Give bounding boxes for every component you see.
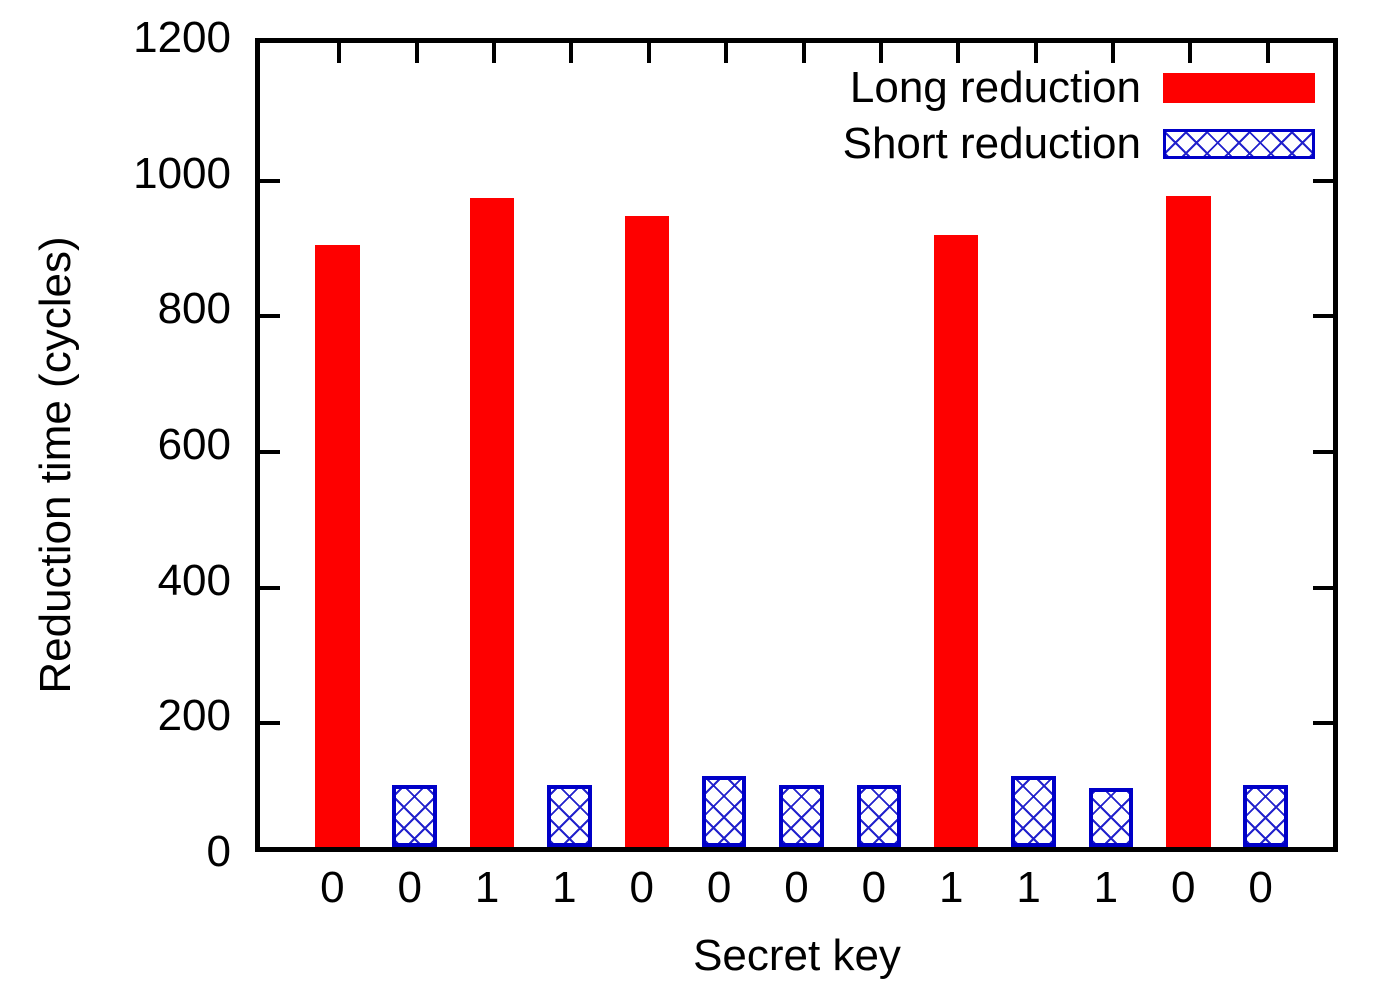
x-axis-tick-label: 0 xyxy=(320,866,344,910)
bar-long-reduction xyxy=(625,216,669,847)
y-axis-tick xyxy=(260,314,280,318)
x-axis-tick-label: 1 xyxy=(475,866,499,910)
y-axis-tick-label: 800 xyxy=(158,287,231,331)
legend-swatch-short-reduction xyxy=(1163,129,1315,159)
y-axis-tick xyxy=(1313,179,1333,183)
y-axis-title: Reduction time (cycles) xyxy=(34,115,78,815)
x-axis-tick-label: 0 xyxy=(1248,866,1272,910)
bar-short-reduction xyxy=(702,776,746,847)
y-axis-tick-label: 1200 xyxy=(133,16,231,60)
bar-long-reduction xyxy=(470,198,514,847)
bar-long-reduction xyxy=(315,245,359,847)
bar-short-reduction xyxy=(779,785,823,847)
bar-chart-figure: Reduction time (cycles) Secret key 02004… xyxy=(0,0,1399,1006)
x-axis-tick xyxy=(647,43,651,63)
x-axis-tick xyxy=(724,43,728,63)
bar-short-reduction xyxy=(1089,788,1133,847)
x-axis-title: Secret key xyxy=(255,934,1339,978)
legend-item: Short reduction xyxy=(775,116,1315,172)
y-axis-tick-label: 0 xyxy=(207,830,231,874)
bar-short-reduction xyxy=(857,785,901,847)
y-axis-tick xyxy=(260,586,280,590)
bar-long-reduction xyxy=(934,235,978,847)
y-axis-tick-label: 200 xyxy=(158,694,231,738)
x-axis-tick-label: 0 xyxy=(784,866,808,910)
y-axis-tick xyxy=(1313,314,1333,318)
y-axis-tick xyxy=(1313,721,1333,725)
x-axis-tick xyxy=(492,43,496,63)
bar-short-reduction xyxy=(1011,776,1055,847)
x-axis-tick-label: 0 xyxy=(1171,866,1195,910)
legend-item: Long reduction xyxy=(775,60,1315,116)
x-axis-tick-label: 0 xyxy=(707,866,731,910)
x-axis-tick-label: 1 xyxy=(552,866,576,910)
y-axis-tick xyxy=(1313,450,1333,454)
x-axis-tick-label: 1 xyxy=(1016,866,1040,910)
y-axis-tick-label: 1000 xyxy=(133,152,231,196)
bar-short-reduction xyxy=(1243,785,1287,847)
x-axis-tick-label: 0 xyxy=(630,866,654,910)
y-axis-tick-label: 600 xyxy=(158,423,231,467)
x-axis-tick xyxy=(415,43,419,63)
y-axis-tick xyxy=(260,721,280,725)
bar-long-reduction xyxy=(1166,196,1210,847)
y-axis-tick-label: 400 xyxy=(158,559,231,603)
x-axis-tick-label: 1 xyxy=(1094,866,1118,910)
x-axis-tick-label: 0 xyxy=(862,866,886,910)
y-axis-tick xyxy=(260,450,280,454)
x-axis-tick xyxy=(337,43,341,63)
legend-label: Short reduction xyxy=(843,122,1141,166)
x-axis-tick-label: 0 xyxy=(397,866,421,910)
bar-short-reduction xyxy=(547,785,591,847)
bar-short-reduction xyxy=(392,785,436,847)
chart-legend: Long reductionShort reduction xyxy=(775,60,1315,172)
x-axis-tick xyxy=(569,43,573,63)
x-axis-tick-label: 1 xyxy=(939,866,963,910)
legend-swatch-long-reduction xyxy=(1163,73,1315,103)
y-axis-tick xyxy=(260,179,280,183)
y-axis-tick xyxy=(1313,586,1333,590)
legend-label: Long reduction xyxy=(850,66,1141,110)
